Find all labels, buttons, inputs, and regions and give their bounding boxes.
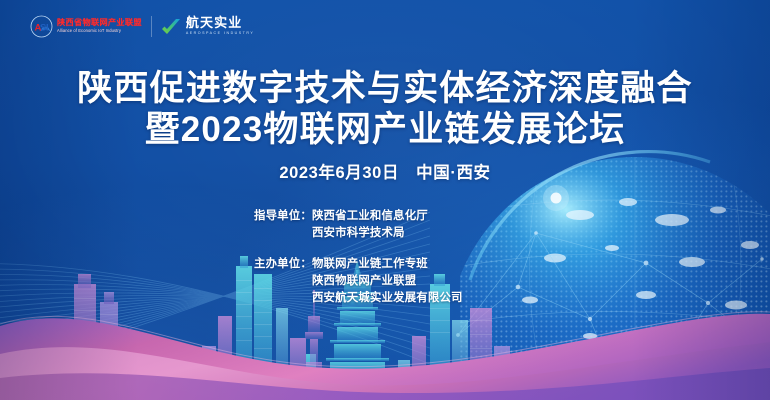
svg-text:I: I <box>46 22 49 33</box>
credit-block-guidance: 指导单位： 陕西省工业和信息化厅 西安市科学技术局 <box>254 208 516 242</box>
asi-logo-en-name: Alliance of Economic IoT Industry <box>57 28 142 34</box>
event-banner: A S I 陕西省物联网产业联盟 Alliance of Economic Io… <box>0 0 770 400</box>
asi-logo-cn-name: 陕西省物联网产业联盟 <box>57 18 142 28</box>
credits-section: 指导单位： 陕西省工业和信息化厅 西安市科学技术局 主办单位： 物联网产业链工作… <box>0 208 770 307</box>
aerospace-logo-en-name: AEROSPACE INDUSTRY <box>186 30 254 36</box>
title-line-1: 陕西促进数字技术与实体经济深度融合 <box>0 68 770 109</box>
logo-divider <box>151 16 152 37</box>
page-title: 陕西促进数字技术与实体经济深度融合 暨2023物联网产业链发展论坛 <box>0 68 770 150</box>
asi-monogram-icon: A S I <box>30 15 53 38</box>
credit-values: 物联网产业链工作专班 陕西物联网产业联盟 西安航天城实业发展有限公司 <box>312 256 463 307</box>
aerospace-swoosh-icon <box>161 18 181 35</box>
svg-text:S: S <box>40 22 46 33</box>
aerospace-logo-cn-name: 航天实业 <box>186 16 254 30</box>
event-date-location: 2023年6月30日 中国·西安 <box>0 159 770 183</box>
aerospace-industry-logo[interactable]: 航天实业 AEROSPACE INDUSTRY <box>161 16 254 36</box>
credit-label: 指导单位： <box>254 208 312 225</box>
credit-value: 西安航天城实业发展有限公司 <box>312 290 463 307</box>
asi-alliance-logo[interactable]: A S I 陕西省物联网产业联盟 Alliance of Economic Io… <box>30 15 142 38</box>
credit-label: 主办单位： <box>254 256 312 273</box>
credit-value: 陕西物联网产业联盟 <box>312 273 463 290</box>
credit-values: 陕西省工业和信息化厅 西安市科学技术局 <box>312 208 428 242</box>
vignette-overlay <box>0 0 770 400</box>
credit-value: 物联网产业链工作专班 <box>312 256 463 273</box>
credit-value: 西安市科学技术局 <box>312 225 428 242</box>
credit-block-organizer: 主办单位： 物联网产业链工作专班 陕西物联网产业联盟 西安航天城实业发展有限公司 <box>254 256 516 307</box>
logo-bar: A S I 陕西省物联网产业联盟 Alliance of Economic Io… <box>30 11 254 41</box>
title-line-2: 暨2023物联网产业链发展论坛 <box>0 109 770 150</box>
credit-value: 陕西省工业和信息化厅 <box>312 208 428 225</box>
